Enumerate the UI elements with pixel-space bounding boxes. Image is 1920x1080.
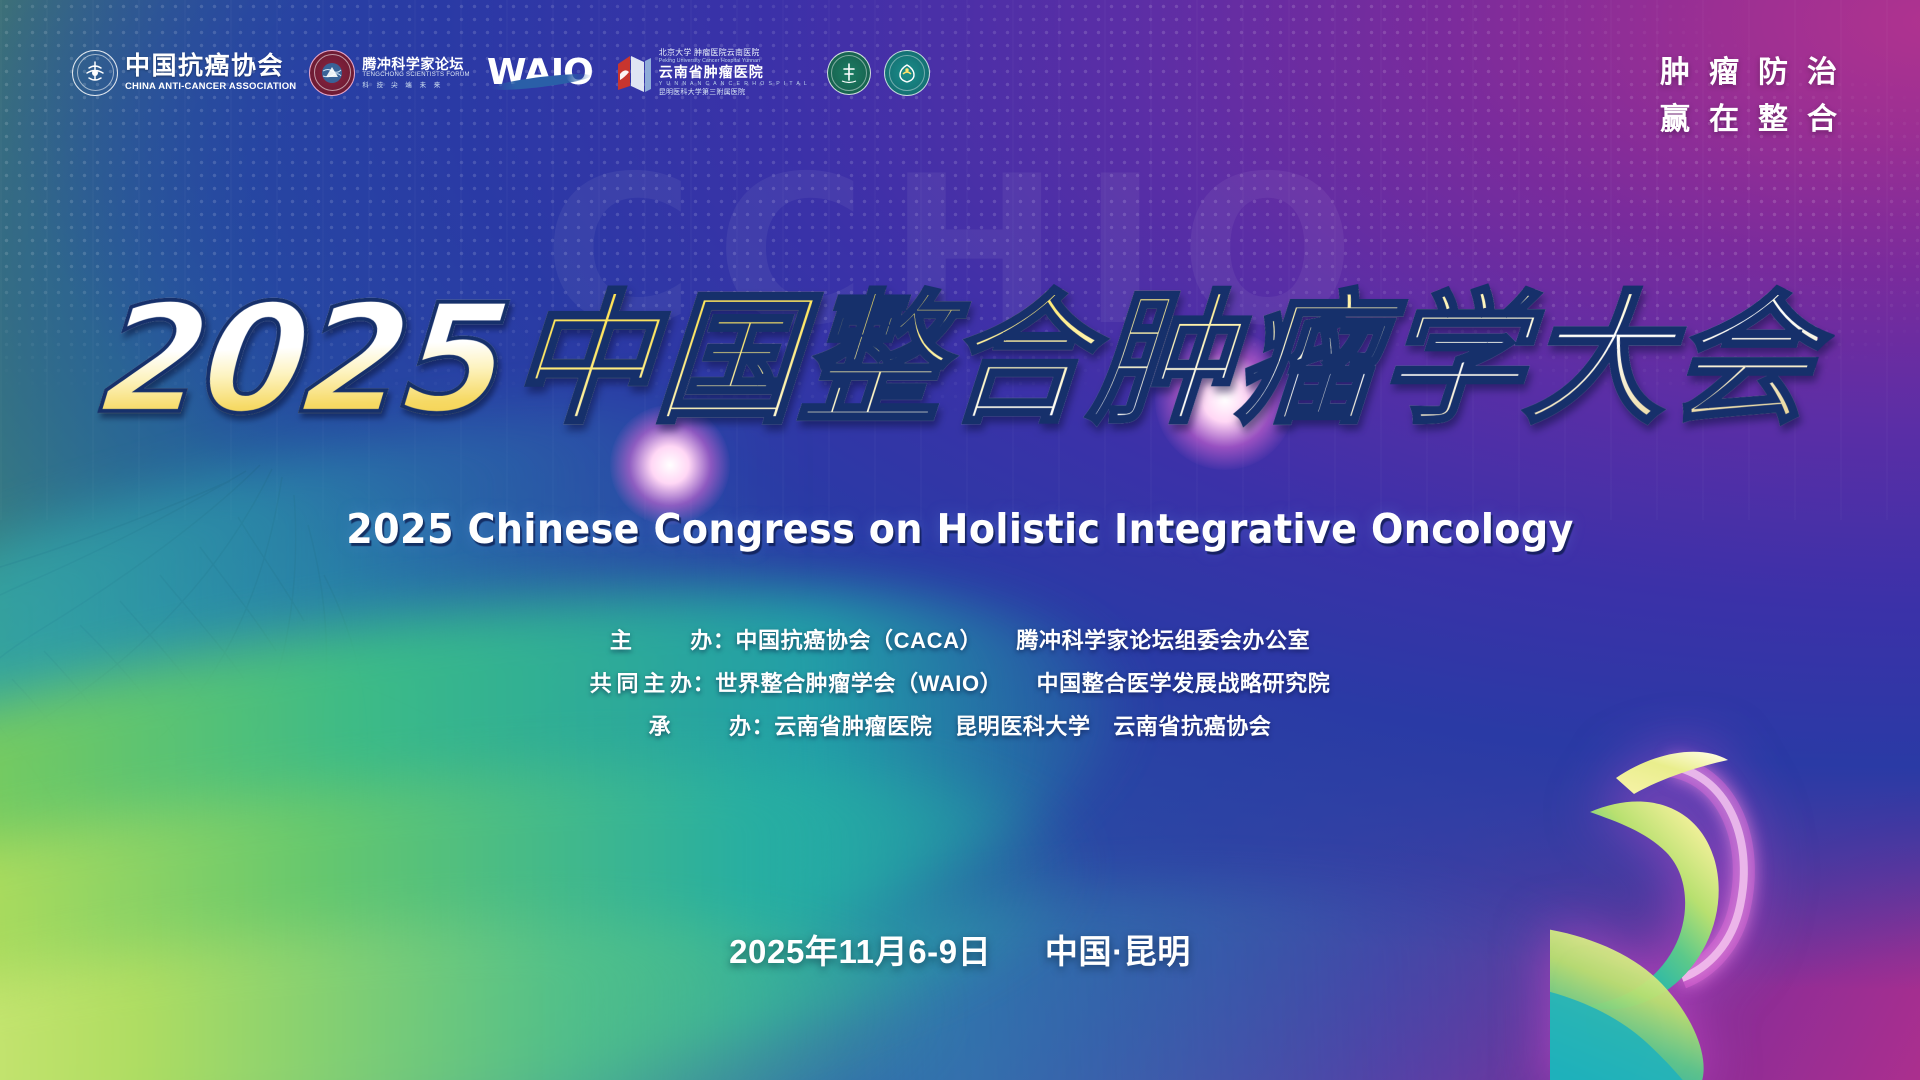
- tengchong-globe-seal-icon: [309, 50, 355, 96]
- organizer-separator: ：: [752, 714, 775, 739]
- conference-location: 中国·昆明: [1045, 933, 1191, 970]
- organizer-entries: 世界整合肿瘤学会（WAIO） 中国整合医学发展战略研究院: [715, 671, 1330, 696]
- logo-yunnan-cancer-hospital: 北京大学 肿瘤医院云南医院 Peking University Cancer H…: [614, 48, 808, 97]
- conference-poster: CCHIO 中国抗癌协会 CHINA ANTI-CANCER ASSOCIATI…: [0, 0, 1920, 1080]
- title-english: 2025 Chinese Congress on Holistic Integr…: [67, 505, 1853, 553]
- kunming-medical-university-seal-icon: [827, 51, 871, 95]
- ynch-line1: 北京大学 肿瘤医院云南医院: [659, 48, 808, 58]
- sponsor-logo-row: 中国抗癌协会 CHINA ANTI-CANCER ASSOCIATION 腾冲科…: [72, 48, 930, 97]
- organizer-label: 承办: [649, 706, 752, 749]
- yunnan-anti-cancer-association-seal-icon: [884, 50, 930, 96]
- organizer-row: 主办：中国抗癌协会（CACA） 腾冲科学家论坛组委会办公室: [0, 620, 1920, 663]
- logo-yunnan-anti-cancer-association: [884, 50, 930, 96]
- organizer-entries: 中国抗癌协会（CACA） 腾冲科学家论坛组委会办公室: [735, 628, 1310, 653]
- slogan-line-2: 赢在整合: [1660, 97, 1858, 144]
- slogan-line-1: 肿瘤防治: [1660, 50, 1858, 97]
- waio-wordmark-icon: WAIO: [487, 55, 593, 91]
- yunnan-cancer-hospital-icon: [614, 52, 654, 94]
- organizer-label: 共同主办: [590, 663, 693, 706]
- ynch-line3: 云南省肿瘤医院: [659, 64, 808, 82]
- organizer-label: 主办: [610, 620, 713, 663]
- caca-cn-name: 中国抗癌协会: [125, 53, 296, 79]
- conference-slogan: 肿瘤防治 赢在整合: [1660, 50, 1858, 143]
- ynch-line5: 昆明医科大学第三附属医院: [659, 87, 808, 97]
- organizer-row: 承办：云南省肿瘤医院 昆明医科大学 云南省抗癌协会: [0, 706, 1920, 749]
- date-location-bar: 2025年11月6-9日 中国·昆明: [0, 925, 1920, 973]
- tengchong-cn-name: 腾冲科学家论坛: [362, 56, 469, 72]
- organizer-block: 主办：中国抗癌协会（CACA） 腾冲科学家论坛组委会办公室 共同主办：世界整合肿…: [0, 620, 1920, 749]
- organizer-entries: 云南省肿瘤医院 昆明医科大学 云南省抗癌协会: [774, 714, 1271, 739]
- main-title: 2025 中国整合肿瘤学大会: [0, 285, 1920, 435]
- conference-date: 2025年11月6-9日: [729, 933, 991, 970]
- title-chinese: 中国整合肿瘤学大会: [506, 289, 1821, 431]
- logo-tengchong-forum: 腾冲科学家论坛 TENGCHONG SCIENTISTS FORUM 科 技 尖…: [309, 50, 469, 96]
- organizer-row: 共同主办：世界整合肿瘤学会（WAIO） 中国整合医学发展战略研究院: [0, 663, 1920, 706]
- caca-seal-icon: [72, 50, 118, 96]
- organizer-separator: ：: [713, 628, 736, 653]
- organizer-separator: ：: [693, 671, 716, 696]
- peacock-bird-graphic: [1550, 726, 1880, 1080]
- tengchong-tagline: 科 技 尖 端 未 来: [362, 79, 469, 89]
- poster-header: 中国抗癌协会 CHINA ANTI-CANCER ASSOCIATION 腾冲科…: [0, 0, 1920, 170]
- logo-kunming-medical-university: [827, 51, 871, 95]
- logo-waio: WAIO: [487, 55, 593, 91]
- tengchong-en-name: TENGCHONG SCIENTISTS FORUM: [362, 72, 469, 78]
- title-year: 2025: [96, 285, 513, 435]
- caca-en-name: CHINA ANTI-CANCER ASSOCIATION: [125, 81, 296, 92]
- logo-caca: 中国抗癌协会 CHINA ANTI-CANCER ASSOCIATION: [72, 50, 296, 96]
